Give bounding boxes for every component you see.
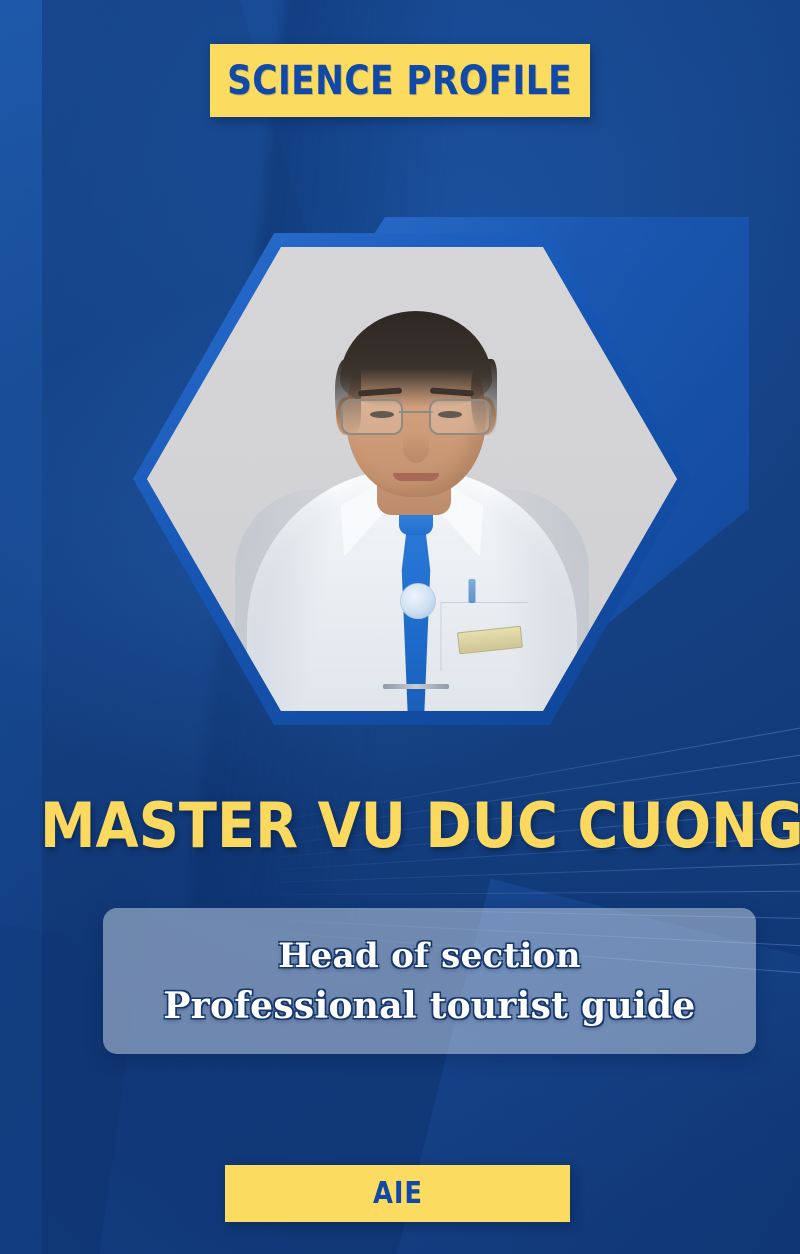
- portrait-lens-right: [429, 399, 491, 435]
- hexagon-photo-area: [147, 247, 677, 711]
- kicker-label: SCIENCE PROFILE: [228, 58, 573, 104]
- portrait-shirt-shadow-right: [479, 489, 589, 711]
- person-name: MASTER VU DUC CUONG: [40, 790, 760, 862]
- role-line-2: Professional tourist guide: [163, 984, 695, 1028]
- background-fan-line: [280, 890, 800, 896]
- portrait-glasses-bridge: [399, 411, 433, 413]
- science-profile-poster: SCIENCE PROFILE: [0, 0, 800, 1254]
- footer-badge-label: AIE: [373, 1176, 423, 1211]
- portrait-lapel-badge: [400, 583, 436, 619]
- portrait-nose: [403, 433, 429, 463]
- portrait-eyeglasses: [341, 399, 491, 433]
- portrait-pocket-pen: [469, 579, 476, 603]
- portrait-hexagon: [133, 233, 691, 725]
- portrait-shirt-shadow-left: [235, 489, 345, 711]
- role-line-1: Head of section: [278, 934, 581, 978]
- role-panel: Head of section Professional tourist gui…: [103, 908, 756, 1054]
- portrait-tie-clip: [383, 684, 449, 689]
- portrait-photo: [147, 247, 677, 711]
- portrait-lens-left: [341, 399, 403, 435]
- kicker-banner: SCIENCE PROFILE: [210, 44, 590, 117]
- portrait-mouth: [393, 473, 439, 481]
- footer-banner: AIE: [225, 1165, 570, 1222]
